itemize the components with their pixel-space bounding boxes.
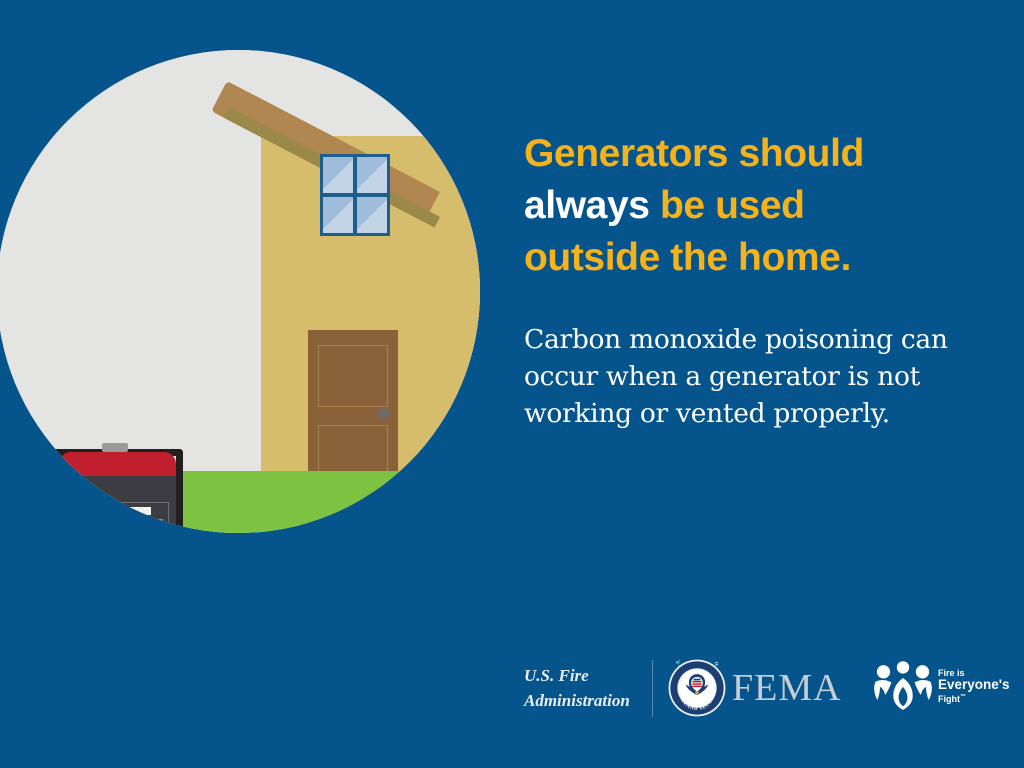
window-pane [323, 157, 353, 193]
page-headline: Generators should always be used outside… [524, 128, 974, 284]
generator-fuel-cap [102, 443, 128, 452]
three-figures-flame-icon [872, 660, 934, 712]
safety-infographic-poster: Generators should always be used outside… [0, 0, 1024, 768]
house-window [320, 154, 390, 236]
door-panel-top [318, 345, 388, 407]
door-knob-icon [378, 408, 389, 419]
illustration-circle [0, 50, 480, 533]
generator-body [57, 476, 178, 498]
generator-outlet [130, 519, 145, 533]
headline-line-1: Generators should [524, 132, 864, 175]
generator-display [125, 507, 151, 515]
fief-line-3-text: Fight [938, 694, 960, 704]
fief-line-2: Everyone's [938, 678, 1010, 692]
dhs-seal-icon: U.S. DEPARTMENT OF HOMELAND SECURITY [668, 659, 726, 717]
generator-indicator-light-icon [116, 508, 120, 513]
usfa-line-1: U.S. Fire [524, 663, 630, 688]
fema-wordmark: FEMA [732, 669, 842, 707]
generator-outlet [112, 519, 127, 533]
headline-emphasis-always: always [524, 184, 650, 227]
footer-logo-bar: U.S. Fire Administration U.S. DEPARTMENT… [520, 652, 1000, 724]
usfa-line-2: Administration [524, 688, 630, 713]
fire-is-everyones-fight-logo: Fire is Everyone's Fight™ [872, 660, 997, 716]
headline-line-2-rest: be used [650, 184, 805, 227]
portable-generator-illustration [45, 443, 190, 533]
fief-wordmark: Fire is Everyone's Fight™ [938, 668, 1010, 705]
window-pane [357, 157, 387, 193]
generator-fuel-tank [59, 452, 176, 478]
generator-frame-right [176, 449, 183, 533]
generator-frame-left [51, 449, 58, 533]
body-paragraph: Carbon monoxide poisoning can occur when… [524, 321, 974, 432]
window-pane [357, 197, 387, 233]
headline-line-3: outside the home. [524, 236, 851, 279]
fief-trademark: ™ [960, 694, 966, 700]
footer-divider [652, 660, 653, 717]
generator-outlet [148, 519, 163, 533]
generator-muffler [87, 503, 109, 533]
fief-line-3: Fight™ [938, 692, 1010, 705]
copy-block: Generators should always be used outside… [524, 128, 974, 432]
usfa-wordmark: U.S. Fire Administration [524, 663, 630, 713]
window-pane [323, 197, 353, 233]
generator-control-panel [107, 502, 169, 533]
